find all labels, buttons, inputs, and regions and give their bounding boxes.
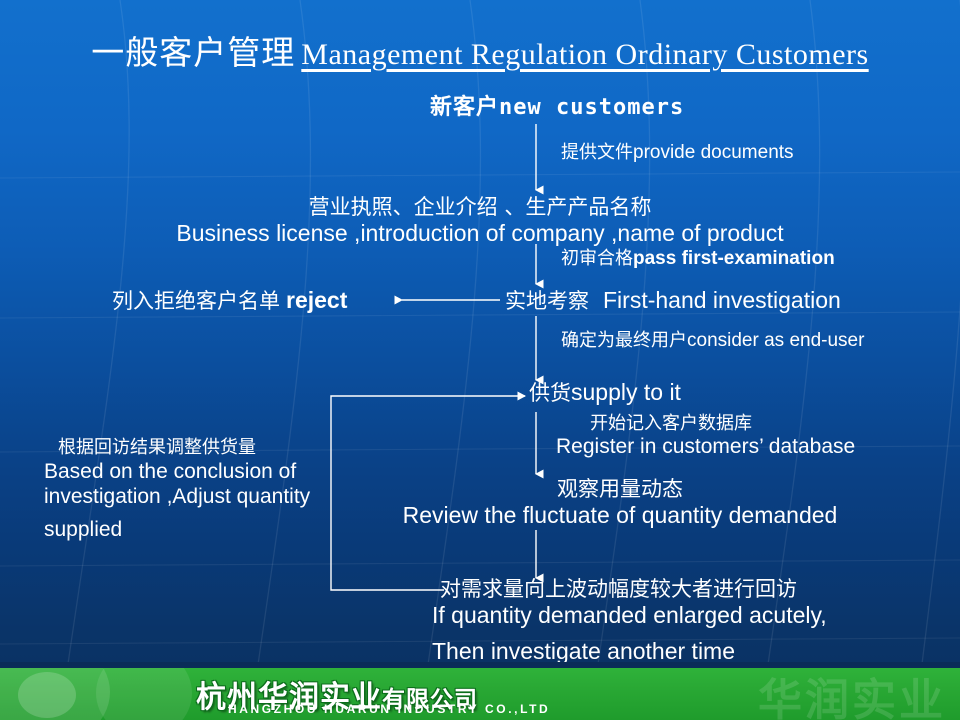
edge-label-register-database: 开始记入客户数据库 Register in customers’ databas… bbox=[556, 414, 855, 459]
node-reject-en: reject bbox=[286, 287, 347, 313]
node-business-license-cn: 营业执照、企业介绍 、生产产品名称 bbox=[0, 196, 960, 220]
node-reject-cn: 列入拒绝客户名单 bbox=[112, 289, 280, 313]
footer-blob-small bbox=[18, 672, 76, 718]
node-new-customers-cn: 新客户 bbox=[430, 95, 499, 120]
node-supply-to-it-cn: 供货 bbox=[529, 381, 571, 405]
slide-canvas: 一般客户管理Management Regulation Ordinary Cus… bbox=[0, 0, 960, 720]
node-review-fluctuate: 观察用量动态 Review the fluctuate of quantity … bbox=[280, 478, 960, 528]
annotation-adjust-quantity-en-line3: supplied bbox=[44, 518, 310, 542]
edge-label-pass-first-examination: 初审合格pass first-examination bbox=[561, 248, 835, 269]
annotation-adjust-quantity-en-line2: investigation ,Adjust quantity bbox=[44, 485, 310, 509]
page-title-english: Management Regulation Ordinary Customers bbox=[301, 38, 868, 71]
node-revisit-customers-cn: 对需求量向上波动幅度较大者进行回访 bbox=[432, 578, 827, 602]
edge-label-provide-documents-cn: 提供文件 bbox=[561, 142, 633, 163]
node-reject: 列入拒绝客户名单reject bbox=[112, 288, 347, 314]
annotation-adjust-quantity-cn: 根据回访结果调整供货量 bbox=[44, 438, 310, 458]
edge-label-consider-as-end-user-en: consider as end-user bbox=[687, 330, 864, 351]
company-logo-english: HANGZHOU HUARUN INDUSTRY CO.,LTD bbox=[228, 702, 550, 716]
node-new-customers: 新客户new customers bbox=[430, 96, 684, 121]
edge-label-consider-as-end-user: 确定为最终用户consider as end-user bbox=[561, 330, 864, 351]
edge-label-provide-documents: 提供文件provide documents bbox=[561, 142, 794, 163]
page-title: 一般客户管理Management Regulation Ordinary Cus… bbox=[0, 26, 960, 74]
node-business-license-en: Business license ,introduction of compan… bbox=[0, 221, 960, 247]
node-review-fluctuate-en: Review the fluctuate of quantity demande… bbox=[280, 503, 960, 529]
node-first-hand-investigation: 实地考察First-hand investigation bbox=[505, 288, 841, 314]
node-new-customers-en: new customers bbox=[499, 95, 684, 120]
annotation-adjust-quantity: 根据回访结果调整供货量 Based on the conclusion of i… bbox=[44, 438, 310, 542]
node-first-hand-investigation-cn: 实地考察 bbox=[505, 289, 589, 313]
node-supply-to-it: 供货supply to it bbox=[529, 380, 681, 406]
page-title-chinese: 一般客户管理 bbox=[91, 36, 295, 72]
node-review-fluctuate-cn: 观察用量动态 bbox=[280, 478, 960, 502]
edge-label-pass-first-examination-cn: 初审合格 bbox=[561, 248, 633, 269]
node-revisit-customers-en-line1: If quantity demanded enlarged acutely, bbox=[432, 603, 827, 629]
node-supply-to-it-en: supply to it bbox=[571, 379, 681, 405]
annotation-adjust-quantity-en-line1: Based on the conclusion of bbox=[44, 460, 310, 484]
edge-label-consider-as-end-user-cn: 确定为最终用户 bbox=[561, 330, 687, 351]
node-revisit-customers: 对需求量向上波动幅度较大者进行回访 If quantity demanded e… bbox=[432, 578, 827, 665]
edge-label-provide-documents-en: provide documents bbox=[633, 142, 794, 163]
node-business-license: 营业执照、企业介绍 、生产产品名称 Business license ,intr… bbox=[0, 196, 960, 246]
node-first-hand-investigation-en: First-hand investigation bbox=[603, 287, 841, 313]
edge-label-register-database-cn: 开始记入客户数据库 bbox=[556, 414, 855, 434]
footer-blob-medium bbox=[96, 668, 192, 720]
footer-ghost-text: 华润实业 bbox=[758, 668, 946, 720]
edge-label-register-database-en: Register in customers’ database bbox=[556, 435, 855, 459]
edge-label-pass-first-examination-en: pass first-examination bbox=[633, 248, 835, 269]
